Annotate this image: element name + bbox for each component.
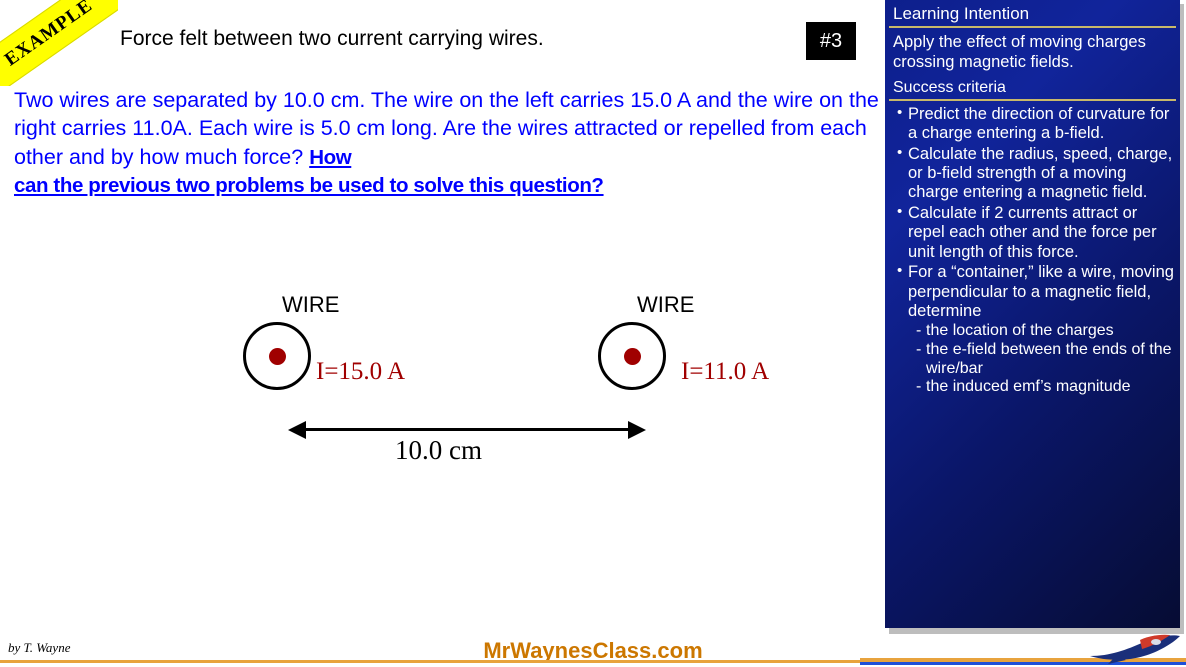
left-current-label: I=15.0 A	[316, 358, 405, 386]
distance-arrow-right-head	[628, 421, 646, 439]
distance-label: 10.0 cm	[395, 435, 482, 466]
right-wire-cross-section	[598, 322, 666, 390]
learning-intention-header: Learning Intention	[885, 0, 1180, 26]
criteria-text: Calculate if 2 currents attract or repel…	[908, 204, 1157, 261]
success-criteria-list: Predict the direction of curvature for a…	[885, 105, 1180, 398]
criteria-text: Calculate the radius, speed, charge, or …	[908, 145, 1172, 202]
example-ribbon-band: EXAMPLE	[0, 0, 118, 86]
example-ribbon-label: EXAMPLE	[1, 0, 97, 71]
rocket-icon	[1086, 630, 1182, 666]
criteria-subitem: the location of the charges	[916, 322, 1174, 341]
criteria-subitem: the induced emf’s magnitude	[916, 378, 1174, 397]
criteria-item: For a “container,” like a wire, moving p…	[897, 263, 1174, 397]
right-wire-current-dot	[624, 348, 641, 365]
question-bold-1: How	[309, 146, 351, 169]
page-title: Force felt between two current carrying …	[120, 27, 544, 51]
left-wire-label: WIRE	[282, 292, 339, 318]
criteria-item: Calculate the radius, speed, charge, or …	[897, 145, 1174, 203]
success-criteria-header: Success criteria	[885, 75, 1180, 99]
question-line-1: Two wires are separated by 10.0 cm. The …	[14, 88, 690, 112]
left-wire-cross-section	[243, 322, 311, 390]
criteria-text: Predict the direction of curvature for a…	[908, 105, 1169, 142]
right-current-label: I=11.0 A	[681, 358, 769, 386]
wire-diagram: WIRE WIRE I=15.0 A I=11.0 A 10.0 cm	[0, 270, 880, 500]
footer-stripe-left	[0, 660, 862, 663]
criteria-sublist: the location of the charges the e-field …	[908, 322, 1174, 398]
question-text: Two wires are separated by 10.0 cm. The …	[14, 86, 880, 200]
left-wire-current-dot	[269, 348, 286, 365]
learning-intention-body: Apply the effect of moving charges cross…	[885, 28, 1180, 75]
distance-arrow-line	[305, 428, 630, 431]
criteria-item: Calculate if 2 currents attract or repel…	[897, 204, 1174, 262]
criteria-subitem: the e-field between the ends of the wire…	[916, 341, 1174, 379]
panel-divider-2	[889, 99, 1176, 101]
example-ribbon: EXAMPLE	[0, 0, 118, 86]
question-bold-2: can the previous two problems be used to…	[14, 174, 604, 197]
criteria-text: For a “container,” like a wire, moving p…	[908, 263, 1174, 320]
learning-panel: Learning Intention Apply the effect of m…	[885, 0, 1180, 628]
slide-number-badge: #3	[806, 22, 856, 60]
right-wire-label: WIRE	[637, 292, 694, 318]
criteria-item: Predict the direction of curvature for a…	[897, 105, 1174, 144]
distance-arrow-left-head	[288, 421, 306, 439]
